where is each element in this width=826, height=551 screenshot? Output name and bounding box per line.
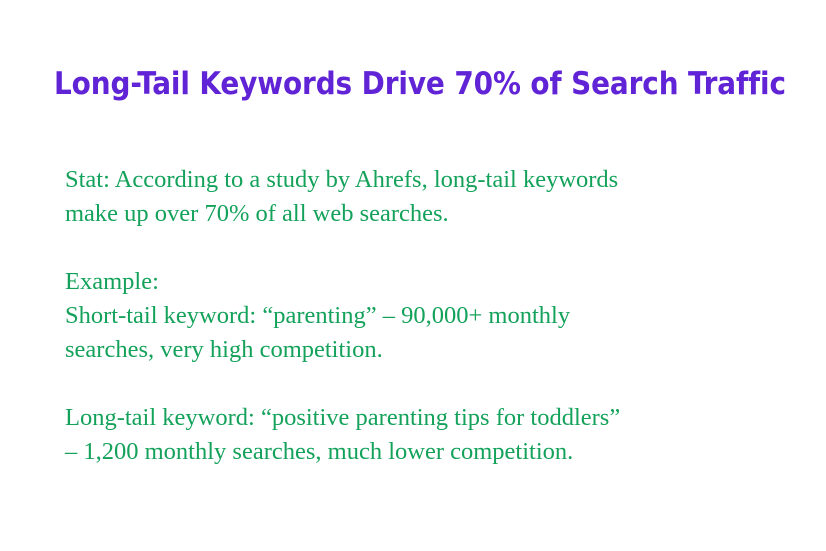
example-paragraph: Example: Short-tail keyword: “parenting”… — [65, 265, 795, 367]
paragraph-line: make up over 70% of all web searches. — [65, 197, 795, 231]
paragraph-line: Long-tail keyword: “positive parenting t… — [65, 401, 795, 435]
stat-paragraph: Stat: According to a study by Ahrefs, lo… — [65, 163, 795, 231]
slide-canvas: Long-Tail Keywords Drive 70% of Search T… — [0, 0, 826, 551]
paragraph-line: Short-tail keyword: “parenting” – 90,000… — [65, 299, 795, 333]
slide-body: Stat: According to a study by Ahrefs, lo… — [65, 163, 795, 469]
long-tail-example-paragraph: Long-tail keyword: “positive parenting t… — [65, 401, 795, 469]
paragraph-line: searches, very high competition. — [65, 333, 795, 367]
paragraph-line: Example: — [65, 265, 795, 299]
page-title: Long-Tail Keywords Drive 70% of Search T… — [54, 64, 794, 104]
paragraph-line: Stat: According to a study by Ahrefs, lo… — [65, 163, 795, 197]
paragraph-line: – 1,200 monthly searches, much lower com… — [65, 435, 795, 469]
